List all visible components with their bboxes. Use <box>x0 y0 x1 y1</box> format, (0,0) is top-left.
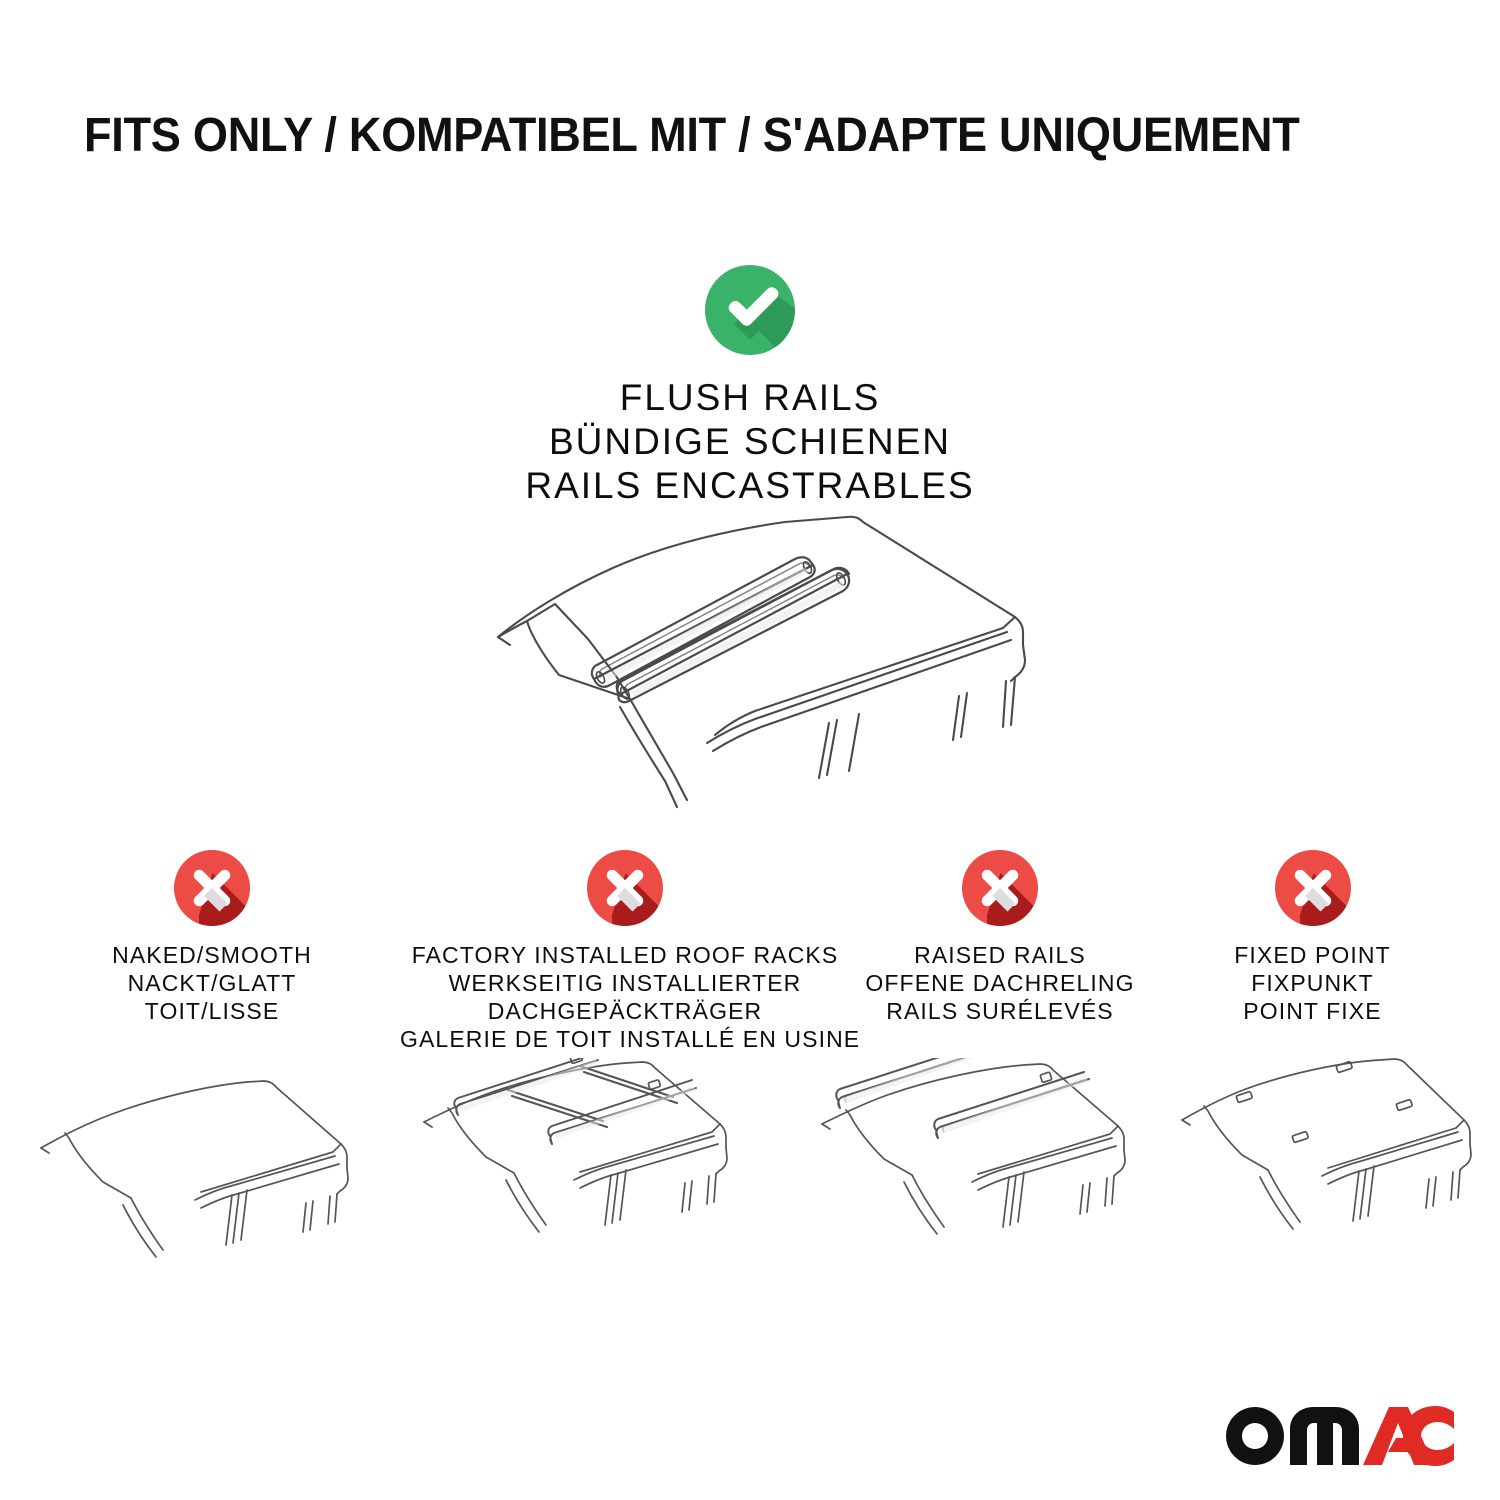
x-circle-icon <box>957 845 1043 931</box>
excluded-label-de: NACKT/GLATT <box>52 969 372 997</box>
excluded-label-fr: TOIT/LISSE <box>52 997 372 1025</box>
omac-logo-letter-m <box>1290 1407 1359 1465</box>
excluded-label-en: RAISED RAILS <box>845 941 1155 969</box>
x-circle-icon <box>582 845 668 931</box>
excluded-label-de-2: DACHGEPÄCKTRÄGER <box>400 997 850 1025</box>
compatible-label-en: FLUSH RAILS <box>0 376 1500 420</box>
excluded-label-en: FACTORY INSTALLED ROOF RACKS <box>400 941 850 969</box>
excluded-label-de: OFFENE DACHRELING <box>845 969 1155 997</box>
x-circle-icon <box>169 845 255 931</box>
page-title: FITS ONLY / KOMPATIBEL MIT / S'ADAPTE UN… <box>84 108 1344 163</box>
excluded-label-en: FIXED POINT <box>1180 941 1445 969</box>
excluded-labels: FACTORY INSTALLED ROOF RACKS WERKSEITIG … <box>400 941 850 1053</box>
excluded-label-de: FIXPUNKT <box>1180 969 1445 997</box>
excluded-labels: RAISED RAILS OFFENE DACHRELING RAILS SUR… <box>845 941 1155 1025</box>
excluded-item-fixed-point: FIXED POINT FIXPUNKT POINT FIXE <box>1180 845 1445 1025</box>
excluded-item-factory-roof-racks: FACTORY INSTALLED ROOF RACKS WERKSEITIG … <box>400 845 850 1053</box>
excluded-label-fr: POINT FIXE <box>1180 997 1445 1025</box>
excluded-label-fr: GALERIE DE TOIT INSTALLÉ EN USINE <box>400 1025 850 1053</box>
raised-rails-roof-illustration <box>818 1058 1188 1308</box>
fixed-point-roof-illustration <box>1178 1058 1500 1308</box>
x-circle-icon <box>1270 845 1356 931</box>
excluded-labels: NAKED/SMOOTH NACKT/GLATT TOIT/LISSE <box>52 941 372 1025</box>
compatible-section: FLUSH RAILS BÜNDIGE SCHIENEN RAILS ENCAS… <box>0 258 1500 508</box>
excluded-item-naked-smooth: NAKED/SMOOTH NACKT/GLATT TOIT/LISSE <box>52 845 372 1025</box>
flush-rails-roof-illustration <box>455 495 1075 815</box>
excluded-label-en: NAKED/SMOOTH <box>52 941 372 969</box>
excluded-item-raised-rails: RAISED RAILS OFFENE DACHRELING RAILS SUR… <box>845 845 1155 1025</box>
omac-logo-letter-o <box>1226 1407 1284 1465</box>
excluded-label-fr: RAILS SURÉLEVÉS <box>845 997 1155 1025</box>
excluded-labels: FIXED POINT FIXPUNKT POINT FIXE <box>1180 941 1445 1025</box>
factory-roof-rack-illustration <box>420 1058 790 1308</box>
naked-smooth-roof-illustration <box>35 1058 405 1308</box>
compatible-labels: FLUSH RAILS BÜNDIGE SCHIENEN RAILS ENCAS… <box>0 376 1500 508</box>
excluded-label-de-1: WERKSEITIG INSTALLIERTER <box>400 969 850 997</box>
compatible-label-de: BÜNDIGE SCHIENEN <box>0 420 1500 464</box>
omac-logo <box>1222 1403 1454 1469</box>
check-circle-icon <box>698 258 802 362</box>
